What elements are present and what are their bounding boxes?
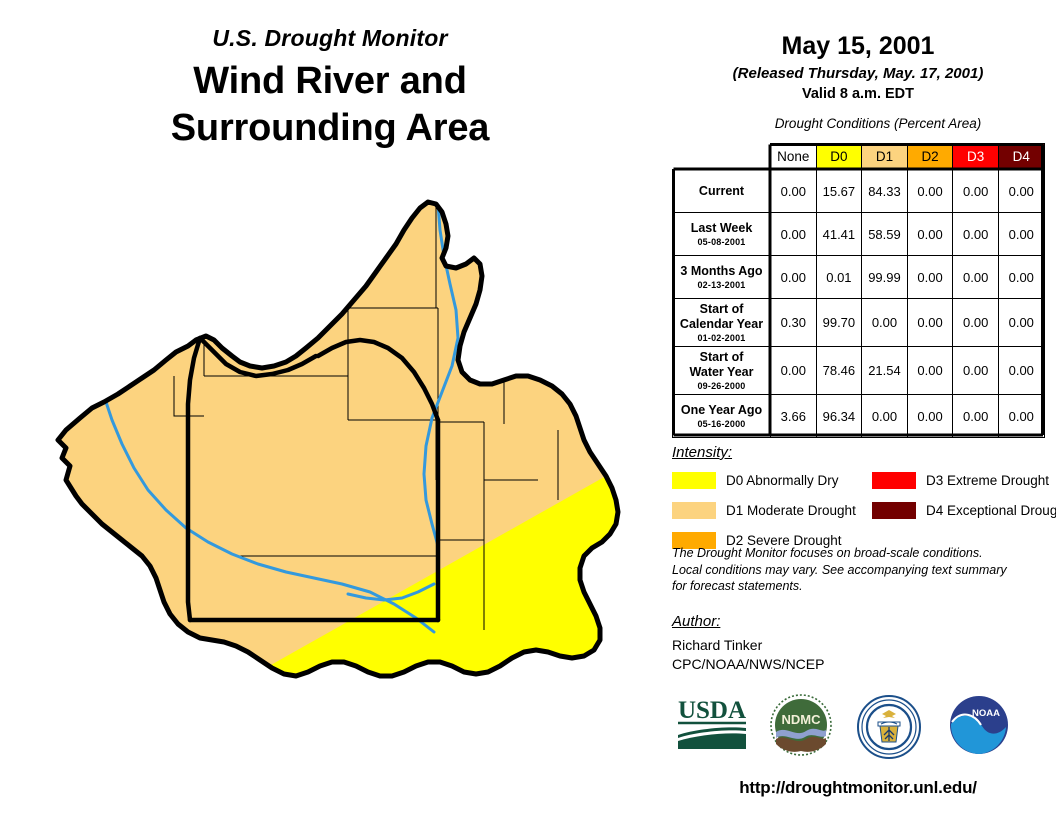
- row-label-text-l2: Water Year: [690, 365, 754, 379]
- cell-lastweek-d3: 0.00: [953, 213, 999, 256]
- legend-swatch-d4: [872, 502, 916, 519]
- drought-map-svg: [18, 180, 652, 740]
- cell-3mo-d0: 0.01: [816, 256, 862, 299]
- cell-current-d1: 84.33: [862, 170, 908, 213]
- legend-item-d4: D4 Exceptional Drought: [872, 498, 1056, 522]
- cell-lastweek-d1: 58.59: [862, 213, 908, 256]
- cell-current-d4: 0.00: [998, 170, 1044, 213]
- row-label-last-week: Last Week 05-08-2001: [673, 213, 771, 256]
- row-label-text-l2: Calendar Year: [680, 317, 763, 331]
- right-panel: May 15, 2001 (Released Thursday, May. 17…: [660, 0, 1056, 816]
- usda-logo: USDA: [674, 694, 750, 752]
- cell-1yr-d4: 0.00: [998, 395, 1044, 438]
- author-heading: Author:: [672, 613, 720, 630]
- table-row: One Year Ago 05-16-2000 3.66 96.34 0.00 …: [673, 395, 1045, 438]
- row-label-date: 09-26-2000: [675, 381, 768, 392]
- row-label-start-calendar-year: Start of Calendar Year 01-02-2001: [673, 299, 771, 347]
- cell-1yr-d3: 0.00: [953, 395, 999, 438]
- disclaimer-line-2: Local conditions may vary. See accompany…: [672, 562, 1044, 579]
- cell-lastweek-d0: 41.41: [816, 213, 862, 256]
- table-row: Start of Water Year 09-26-2000 0.00 78.4…: [673, 347, 1045, 395]
- noaa-logo-text: NOAA: [972, 708, 1000, 719]
- table-corner-cell: [673, 144, 771, 170]
- row-label-text: Last Week: [691, 221, 753, 235]
- page-title-line1: Wind River and: [0, 58, 660, 105]
- legend-label-d0: D0 Abnormally Dry: [726, 473, 839, 488]
- cell-cy-d0: 99.70: [816, 299, 862, 347]
- table-row: Current 0.00 15.67 84.33 0.00 0.00 0.00: [673, 170, 1045, 213]
- drought-map: [18, 180, 652, 740]
- row-label-one-year-ago: One Year Ago 05-16-2000: [673, 395, 771, 438]
- cell-3mo-d3: 0.00: [953, 256, 999, 299]
- row-label-current: Current: [673, 170, 771, 213]
- cell-lastweek-d2: 0.00: [907, 213, 953, 256]
- cell-3mo-none: 0.00: [771, 256, 817, 299]
- row-label-text-l1: Start of: [700, 350, 744, 364]
- legend-item-d3: D3 Extreme Drought: [872, 468, 1056, 492]
- legend-label-d4: D4 Exceptional Drought: [926, 503, 1056, 518]
- website-url[interactable]: http://droughtmonitor.unl.edu/: [660, 778, 1056, 798]
- cell-wy-d1: 21.54: [862, 347, 908, 395]
- cell-1yr-none: 3.66: [771, 395, 817, 438]
- drought-conditions-table: None D0 D1 D2 D3 D4 Current 0.00 15.67 8…: [672, 143, 1045, 438]
- release-date: (Released Thursday, May. 17, 2001): [660, 65, 1056, 82]
- cell-current-d3: 0.00: [953, 170, 999, 213]
- legend-swatch-d0: [672, 472, 716, 489]
- logo-row: USDA NDMC NOAA: [660, 694, 1056, 764]
- cell-3mo-d2: 0.00: [907, 256, 953, 299]
- title-block: U.S. Drought Monitor Wind River and Surr…: [0, 26, 660, 152]
- disclaimer: The Drought Monitor focuses on broad-sca…: [672, 545, 1044, 595]
- cell-wy-d4: 0.00: [998, 347, 1044, 395]
- ndmc-logo: NDMC: [770, 694, 832, 756]
- disclaimer-line-1: The Drought Monitor focuses on broad-sca…: [672, 545, 1044, 562]
- row-label-date: 02-13-2001: [675, 280, 768, 291]
- column-header-d4: D4: [998, 144, 1044, 170]
- cell-current-d2: 0.00: [907, 170, 953, 213]
- cell-cy-d4: 0.00: [998, 299, 1044, 347]
- valid-time: Valid 8 a.m. EDT: [660, 86, 1056, 102]
- row-label-date: 05-08-2001: [675, 237, 768, 248]
- page-title-line2: Surrounding Area: [0, 105, 660, 152]
- cell-wy-d0: 78.46: [816, 347, 862, 395]
- cell-lastweek-d4: 0.00: [998, 213, 1044, 256]
- cell-current-d0: 15.67: [816, 170, 862, 213]
- noaa-logo: NOAA: [948, 694, 1010, 756]
- legend-swatch-d1: [672, 502, 716, 519]
- cell-1yr-d2: 0.00: [907, 395, 953, 438]
- cell-cy-d3: 0.00: [953, 299, 999, 347]
- row-label-date: 05-16-2000: [675, 419, 768, 430]
- table-caption: Drought Conditions (Percent Area): [660, 116, 1056, 131]
- row-label-three-months-ago: 3 Months Ago 02-13-2001: [673, 256, 771, 299]
- author-name: Richard Tinker: [672, 637, 762, 653]
- legend-swatch-d3: [872, 472, 916, 489]
- intensity-heading: Intensity:: [672, 444, 732, 461]
- cell-1yr-d0: 96.34: [816, 395, 862, 438]
- commerce-seal-logo: [856, 694, 922, 760]
- column-header-d0: D0: [816, 144, 862, 170]
- date-block: May 15, 2001 (Released Thursday, May. 17…: [660, 0, 1056, 102]
- column-header-none: None: [771, 144, 817, 170]
- table-row: Last Week 05-08-2001 0.00 41.41 58.59 0.…: [673, 213, 1045, 256]
- drought-monitor-kicker: U.S. Drought Monitor: [0, 26, 660, 50]
- row-label-text-l1: Start of: [700, 302, 744, 316]
- column-header-d1: D1: [862, 144, 908, 170]
- column-header-d2: D2: [907, 144, 953, 170]
- table-row: Start of Calendar Year 01-02-2001 0.30 9…: [673, 299, 1045, 347]
- cell-lastweek-none: 0.00: [771, 213, 817, 256]
- cell-cy-none: 0.30: [771, 299, 817, 347]
- cell-wy-d2: 0.00: [907, 347, 953, 395]
- table-header-row: None D0 D1 D2 D3 D4: [673, 144, 1045, 170]
- cell-wy-none: 0.00: [771, 347, 817, 395]
- page-title: Wind River and Surrounding Area: [0, 58, 660, 152]
- row-label-text: Current: [699, 184, 744, 198]
- cell-wy-d3: 0.00: [953, 347, 999, 395]
- table-row: 3 Months Ago 02-13-2001 0.00 0.01 99.99 …: [673, 256, 1045, 299]
- cell-1yr-d1: 0.00: [862, 395, 908, 438]
- legend-label-d1: D1 Moderate Drought: [726, 503, 856, 518]
- usda-logo-text: USDA: [678, 697, 746, 724]
- row-label-start-water-year: Start of Water Year 09-26-2000: [673, 347, 771, 395]
- row-label-text: 3 Months Ago: [680, 264, 762, 278]
- row-label-date: 01-02-2001: [675, 333, 768, 344]
- legend-column-right: D3 Extreme Drought D4 Exceptional Drough…: [872, 468, 1056, 528]
- cell-current-none: 0.00: [771, 170, 817, 213]
- column-header-d3: D3: [953, 144, 999, 170]
- cell-3mo-d4: 0.00: [998, 256, 1044, 299]
- cell-cy-d2: 0.00: [907, 299, 953, 347]
- legend-item-d0: D0 Abnormally Dry: [672, 468, 856, 492]
- legend-item-d1: D1 Moderate Drought: [672, 498, 856, 522]
- cell-3mo-d1: 99.99: [862, 256, 908, 299]
- disclaimer-line-3: for forecast statements.: [672, 578, 1044, 595]
- legend-label-d3: D3 Extreme Drought: [926, 473, 1049, 488]
- row-label-text: One Year Ago: [681, 403, 762, 417]
- cell-cy-d1: 0.00: [862, 299, 908, 347]
- ndmc-logo-text: NDMC: [782, 712, 822, 727]
- issue-date: May 15, 2001: [660, 32, 1056, 61]
- author-org: CPC/NOAA/NWS/NCEP: [672, 656, 824, 672]
